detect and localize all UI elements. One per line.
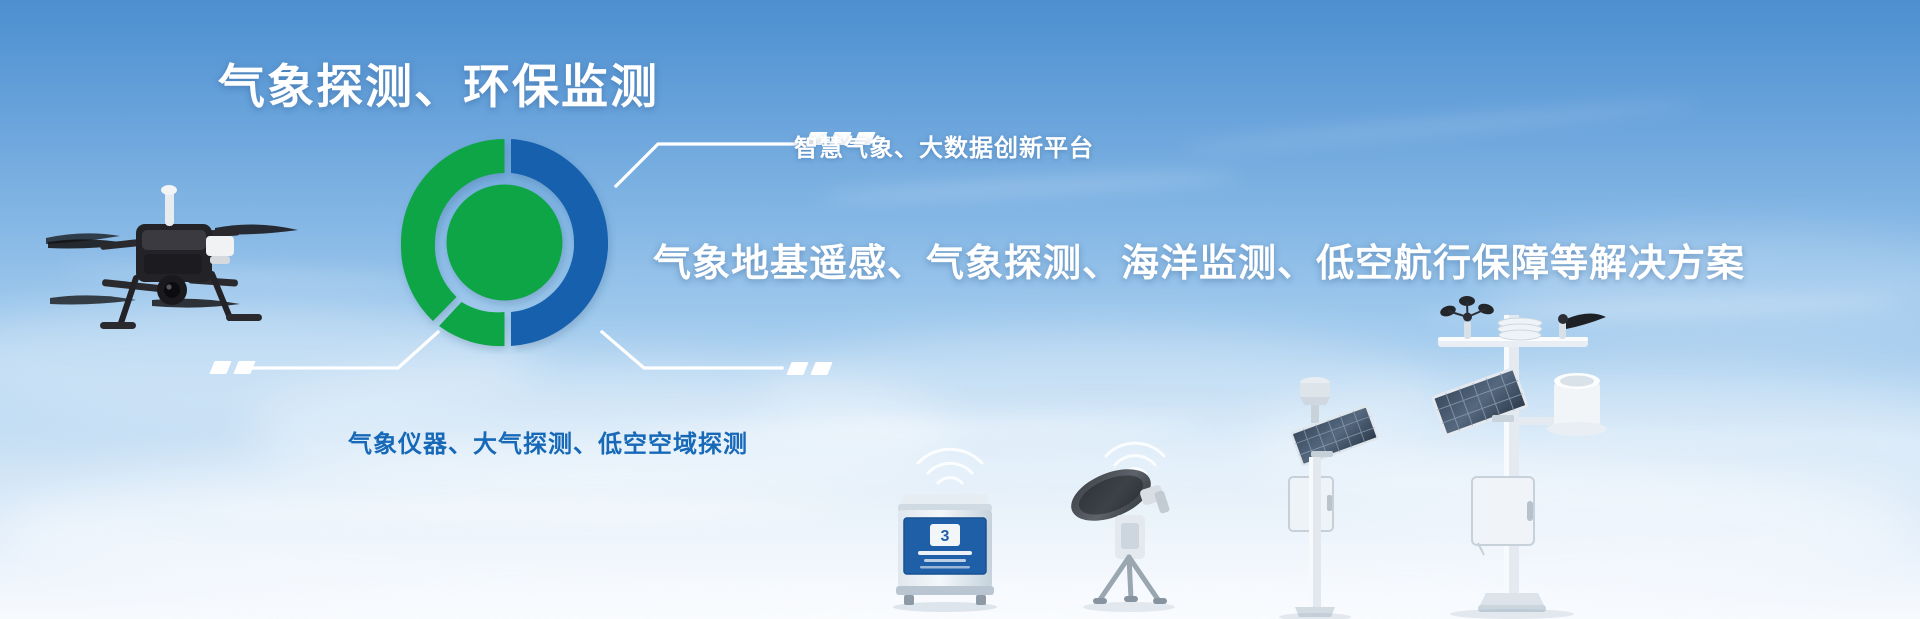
- page-title: 气象探测、环保监测: [218, 48, 659, 117]
- dash-mark: [233, 361, 255, 374]
- connector-dashes-bottom-right: [789, 362, 830, 375]
- automatic-weather-station: [1420, 289, 1610, 619]
- headline-text: 气象地基遥感、气象探测、海洋监测、低空航行保障等解决方案: [653, 232, 1745, 287]
- label-smart-weather: 智慧气象、大数据创新平台: [794, 128, 1094, 163]
- banner-root: 气象探测、环保监测 智慧气象、大数据创新平台: [0, 0, 1920, 619]
- radar-dish-tripod: [1065, 461, 1195, 611]
- label-instruments: 气象仪器、大气探测、低空空域探测: [348, 424, 748, 459]
- connector-dashes-bottom-left: [212, 361, 253, 374]
- drone-illustration: [40, 150, 310, 350]
- donut-ring-graphic: [393, 131, 616, 354]
- dash-mark: [209, 361, 231, 374]
- cloud-streak: [820, 169, 1240, 205]
- dash-mark: [786, 362, 808, 375]
- solar-powered-monitor-post: [1275, 369, 1385, 619]
- cloud-streak: [1180, 97, 1699, 154]
- dash-mark: [810, 362, 832, 375]
- signal-waves-icon: [905, 429, 995, 489]
- cloud-streak: [200, 500, 840, 520]
- air-quality-analyzer: 3: [890, 484, 1000, 609]
- svg-text:3: 3: [941, 528, 950, 545]
